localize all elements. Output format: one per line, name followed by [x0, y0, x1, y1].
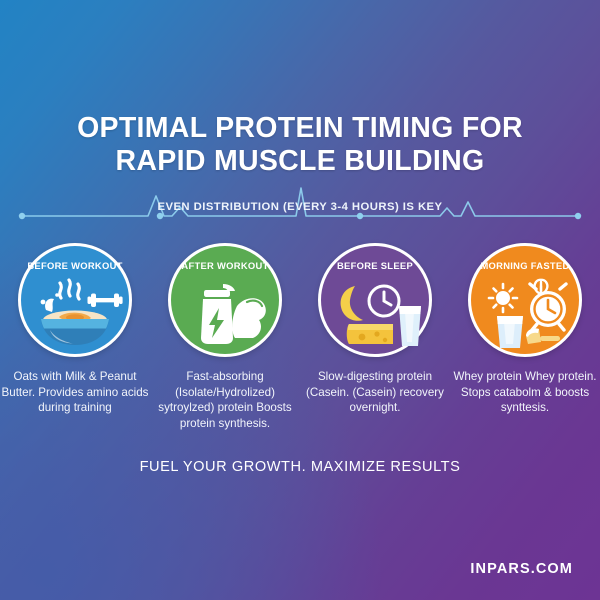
sun-icon: [489, 284, 517, 312]
badge-label: AFTER WORKOUT: [181, 260, 268, 271]
title-line-1: OPTIMAL PROTEIN TIMING FOR: [0, 112, 600, 145]
badge-morning-fasted[interactable]: MORNING FASTED: [468, 243, 582, 357]
crescent-moon-icon: [341, 286, 363, 321]
timing-card-before-workout[interactable]: BEFORE WORKOUT: [10, 243, 140, 431]
before-sleep-icon-group: [321, 272, 429, 354]
timing-card-row: BEFORE WORKOUT: [0, 243, 600, 431]
badge-after-workout[interactable]: AFTER WORKOUT: [168, 243, 282, 357]
protein-scoop-icon: [526, 328, 560, 344]
page-title: OPTIMAL PROTEIN TIMING FOR RAPID MUSCLE …: [0, 112, 600, 178]
badge-before-sleep[interactable]: BEFORE SLEEP: [318, 243, 432, 357]
brand-watermark: INPARS.COM: [470, 561, 573, 577]
card-caption: Whey protein Whey protein. Stops catabol…: [451, 369, 599, 416]
badge-label: BEFORE SLEEP: [337, 260, 413, 271]
timing-card-after-workout[interactable]: AFTER WORKOUT: [160, 243, 290, 431]
shaker-bottle-icon: [171, 272, 279, 354]
badge-label: MORNING FASTED: [480, 260, 569, 271]
flexed-bicep-icon: [232, 298, 266, 338]
badge-label: BEFORE WORKOUT: [27, 260, 122, 271]
milk-glass-icon: [497, 316, 523, 348]
morning-fasted-icon-group: [471, 272, 579, 354]
oatmeal-bowl-icon: [21, 272, 129, 354]
dumbbell-icon: [88, 294, 123, 308]
steam-icon: [60, 280, 80, 299]
timing-card-morning-fasted[interactable]: MORNING FASTED: [460, 243, 590, 431]
milk-splash-icon: [41, 293, 59, 312]
tagline: FUEL YOUR GROWTH. MAXIMIZE RESULTS: [0, 459, 600, 475]
title-line-2: RAPID MUSCLE BUILDING: [0, 145, 600, 178]
infographic-poster: OPTIMAL PROTEIN TIMING FOR RAPID MUSCLE …: [0, 0, 600, 600]
badge-before-workout[interactable]: BEFORE WORKOUT: [18, 243, 132, 357]
subtitle: EVEN DISTRIBUTION (EVERY 3-4 HOURS) IS K…: [0, 201, 600, 213]
milk-glass-icon: [399, 306, 421, 346]
card-caption: Oats with Milk & Peanut Butter. Provides…: [1, 369, 149, 416]
heartbeat-banner: EVEN DISTRIBUTION (EVERY 3-4 HOURS) IS K…: [0, 186, 600, 232]
card-caption: Slow-digesting protein (Casein. (Casein)…: [301, 369, 449, 416]
card-caption: Fast-absorbing (Isolate/Hydrolized) sytr…: [151, 369, 299, 431]
timing-card-before-sleep[interactable]: BEFORE SLEEP: [310, 243, 440, 431]
cheese-wedge-icon: [347, 324, 393, 344]
clock-icon: [369, 286, 399, 316]
